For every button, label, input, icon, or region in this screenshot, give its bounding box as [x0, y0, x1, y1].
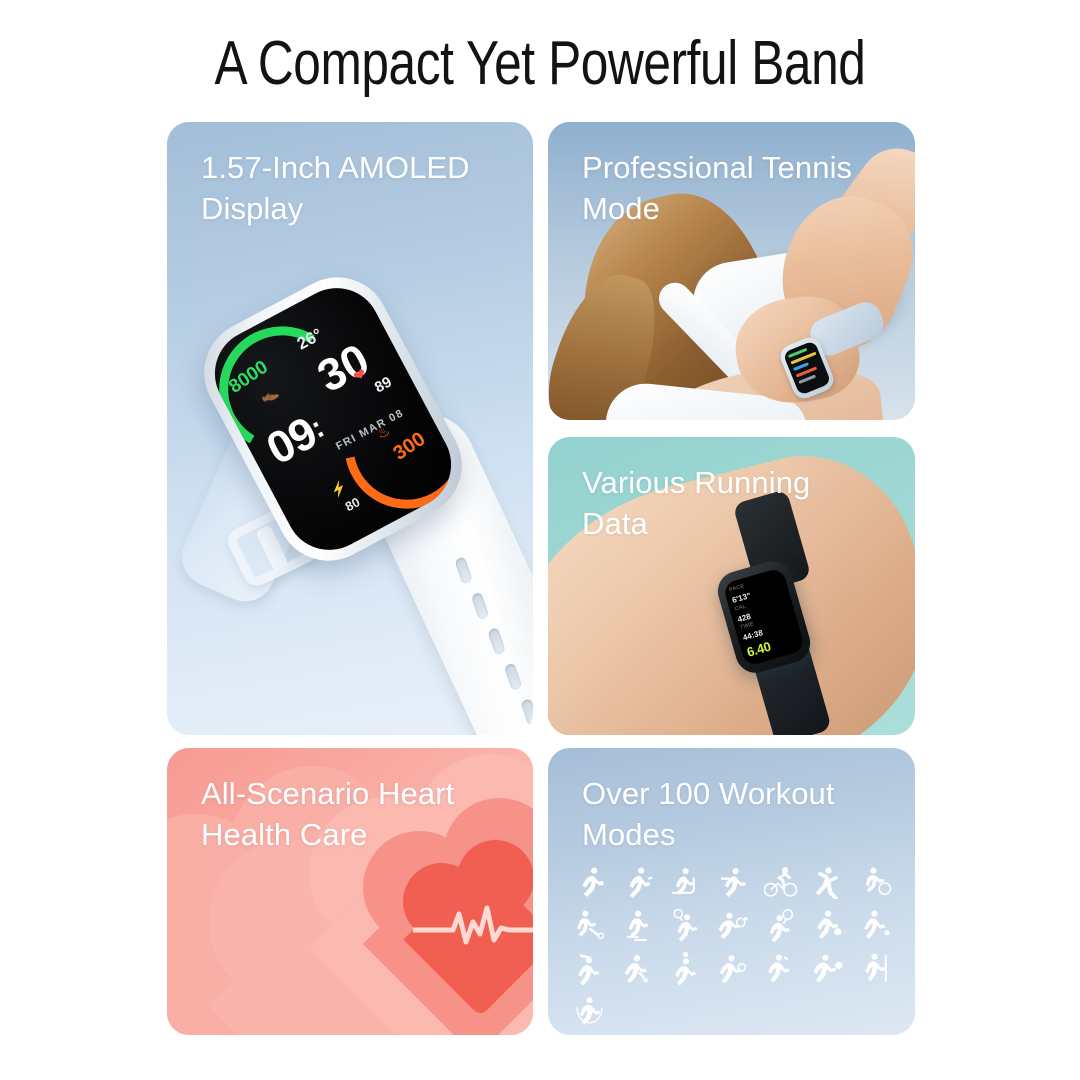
step-machine-icon — [621, 909, 654, 942]
soccer-icon — [811, 909, 844, 942]
boxing-icon — [811, 952, 844, 985]
elliptical-icon — [573, 909, 606, 942]
ecg-pulse-icon — [413, 900, 533, 946]
treadmill-icon — [668, 866, 701, 899]
handball-icon — [716, 952, 749, 985]
rope-skipping-icon — [573, 995, 606, 1028]
volleyball-icon — [668, 952, 701, 985]
table-tennis-icon — [716, 909, 749, 942]
card-label-line1: Over 100 Workout — [582, 774, 889, 815]
feature-card-grid: 8000 👞 26° 30 09: FRI MAR 08 ❤ 89 ♨ 300 — [167, 122, 915, 1035]
feature-card-running[interactable]: PACE 6'13" CAL 428 TIME 44:38 6.40 Vario… — [548, 437, 915, 735]
running-watch-screen: PACE 6'13" CAL 428 TIME 44:38 6.40 — [722, 567, 805, 667]
card-label-workout: Over 100 Workout Modes — [582, 774, 889, 856]
hiking-icon — [859, 952, 892, 985]
strap-holes — [453, 547, 533, 735]
sprinting-icon — [621, 866, 654, 899]
watch-product-render: 8000 👞 26° 30 09: FRI MAR 08 ❤ 89 ♨ 300 — [167, 122, 533, 735]
feature-card-workout[interactable]: Over 100 Workout Modes — [548, 748, 915, 1035]
race-walking-icon — [716, 866, 749, 899]
badminton-icon — [668, 909, 701, 942]
battery-value: 80 — [343, 494, 363, 514]
running-icon — [573, 866, 606, 899]
bolt-icon: ⚡ — [328, 479, 350, 501]
basketball-icon — [859, 909, 892, 942]
baseball-icon — [573, 952, 606, 985]
workout-icon-grid — [566, 866, 899, 1028]
rowing-machine-icon — [859, 866, 892, 899]
cycling-icon — [764, 866, 797, 899]
page-title: A Compact Yet Powerful Band — [108, 28, 972, 99]
card-label-line2: Modes — [582, 815, 889, 856]
feature-card-display[interactable]: 8000 👞 26° 30 09: FRI MAR 08 ❤ 89 ♨ 300 — [167, 122, 533, 735]
heart-illustration — [167, 748, 533, 1035]
product-feature-poster: A Compact Yet Powerful Band 8000 — [0, 0, 1080, 1080]
stretching-icon — [811, 866, 844, 899]
yoga-icon — [764, 952, 797, 985]
feature-card-heart[interactable]: All-Scenario Heart Health Care — [167, 748, 533, 1035]
tennis-icon — [764, 909, 797, 942]
feature-card-tennis[interactable]: Professional Tennis Mode — [548, 122, 915, 420]
hockey-icon — [621, 952, 654, 985]
